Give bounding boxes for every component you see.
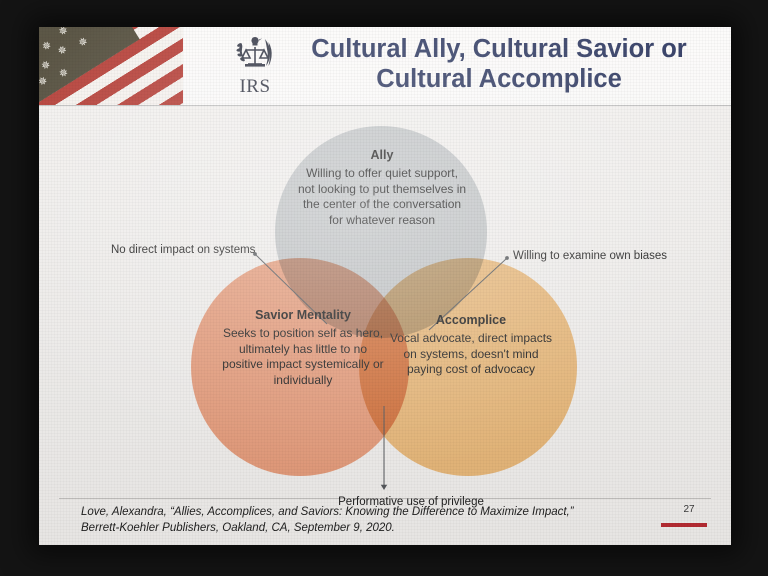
annotation-performative-use: Performative use of privilege (311, 496, 511, 508)
venn-body-ally: Willing to offer quiet support, not look… (297, 166, 467, 228)
irs-eagle-scales-icon (234, 33, 276, 77)
venn-heading-savior: Savior Mentality (217, 308, 389, 322)
source-citation: Love, Alexandra, “Allies, Accomplices, a… (81, 504, 641, 536)
venn-body-savior: Seeks to position self as hero, ultimate… (217, 326, 389, 388)
venn-label-ally: Ally Willing to offer quiet support, not… (297, 148, 467, 228)
venn-label-accomplice: Accomplice Vocal advocate, direct impact… (387, 313, 555, 378)
venn-heading-ally: Ally (297, 148, 467, 162)
venn-heading-accomplice: Accomplice (387, 313, 555, 327)
venn-body-accomplice: Vocal advocate, direct impacts on system… (387, 331, 555, 378)
slide-header: ✵ ✵ ✵ ✵ ✵ ✵ ✵ ✵ ✵ ✵ ✵ ✵ ✵ ✵ ✵ ✵ ✵ (39, 27, 731, 105)
leader-arrowhead-bottom (381, 485, 387, 490)
photographed-slide-frame: ✵ ✵ ✵ ✵ ✵ ✵ ✵ ✵ ✵ ✵ ✵ ✵ ✵ ✵ ✵ ✵ ✵ (0, 0, 768, 576)
venn-label-savior: Savior Mentality Seeks to position self … (217, 308, 389, 388)
irs-logo: IRS (225, 33, 285, 99)
irs-wordmark: IRS (239, 76, 270, 97)
page-number-accent-bar (661, 523, 707, 527)
us-flag-graphic: ✵ ✵ ✵ ✵ ✵ ✵ ✵ ✵ ✵ ✵ ✵ ✵ ✵ ✵ ✵ ✵ ✵ (39, 27, 183, 105)
venn-diagram: Ally Willing to offer quiet support, not… (39, 106, 731, 491)
annotation-examine-own-biases: Willing to examine own biases (513, 250, 667, 262)
annotation-no-direct-impact: No direct impact on systems (111, 244, 255, 256)
leader-dot-right (505, 256, 509, 260)
page-number: 27 (669, 504, 709, 515)
slide-title: Cultural Ally, Cultural Savior or Cultur… (289, 34, 709, 94)
presentation-slide: ✵ ✵ ✵ ✵ ✵ ✵ ✵ ✵ ✵ ✵ ✵ ✵ ✵ ✵ ✵ ✵ ✵ (39, 27, 731, 545)
citation-line-2: Berrett-Koehler Publishers, Oakland, CA,… (81, 520, 641, 536)
